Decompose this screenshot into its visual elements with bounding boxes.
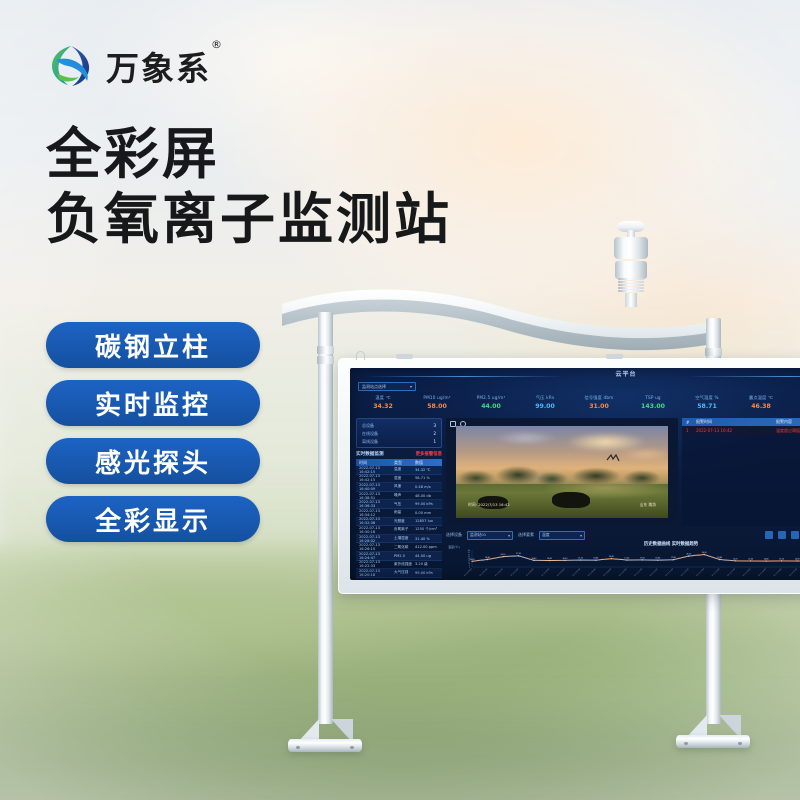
metric-value: 143.00 [626,402,680,412]
svg-text:18.40: 18.40 [717,557,722,559]
svg-text:07-13 14:00: 07-13 14:00 [681,568,690,576]
stat-label: 离线设备 [362,438,378,446]
metric-pm10: PM10 ug/m³ 58.00 [410,394,464,416]
video-timestamp: 时间: 2022/7/13 16:42 [468,502,510,508]
alarm-log-panel: # 报警时间 报警内容 1 2022-07-13 16:42 温度超过阈值上限 … [682,418,800,526]
cell-type: 二氧化碳 [394,545,415,550]
cell-time: 2022-07-13 16:22:33 [356,560,394,568]
chart-toolbar: 选择设备 监测站01 ▾ 选择要素 温度 ▾ 2022-07-13 00:00 [446,528,800,542]
metric-value: 48.00 [788,402,800,412]
table-row: 2022-07-13 16:30:18负氧离子1250 个/cm³ [356,526,442,535]
stat-label: 在线设备 [362,430,378,438]
metric-label: 信号强度 dbm [572,394,626,402]
table-row: 2022-07-13 16:36:33气压99.00 kPa [356,500,442,509]
cell-value: 99.00 kPa [415,571,442,575]
metric-humidity: 空气湿度 % 58.71 [680,394,734,416]
cell-type: PM2.5 [394,554,415,558]
svg-text:40: 40 [468,550,471,552]
stat-total: 总设备 3 [362,422,436,430]
column-time: 时间 [356,460,394,466]
svg-text:17.20: 17.20 [624,557,629,559]
log-column-time: 报警时间 [696,419,776,425]
table-row: 2022-07-13 16:40:09风速0.48 m/s [356,483,442,492]
cabinet-bracket-1 [396,354,413,359]
metric-value: 44.00 [464,402,518,412]
video-feed[interactable]: 时间: 2022/7/13 16:42 山东 潍坊 [446,418,678,526]
video-frame: 时间: 2022/7/13 16:42 山东 潍坊 [456,426,668,518]
video-location-tag: 山东 潍坊 [640,502,656,508]
sensor-body-upper [614,237,648,259]
metric-label: 温度 ℃ [356,394,410,402]
svg-text:16.40: 16.40 [532,558,537,560]
screen-header: 云平台 [350,368,800,382]
svg-text:16.80: 16.80 [593,558,598,560]
svg-text:07-13 08:00: 07-13 08:00 [588,568,597,576]
svg-text:07-13 13:00: 07-13 13:00 [665,568,674,576]
cell-value: 3.20 级 [415,562,442,567]
factor-select[interactable]: 温度 ▾ [539,531,585,540]
metric-noise: 噪声 db 48.00 [788,394,800,416]
metric-label: 空气湿度 % [680,394,734,402]
cell-value: 412.00 ppm [415,545,442,549]
svg-text:15.20: 15.20 [733,558,738,560]
cell-time: 2022-07-13 16:28:02 [356,535,394,543]
svg-text:17.50: 17.50 [640,557,645,559]
svg-text:27.20: 27.20 [516,553,521,555]
metric-value: 58.00 [410,402,464,412]
log-content: 温度超过阈值上限 请及时处理设备 [776,428,800,434]
video-cow-2 [552,492,590,508]
svg-text:07-13 18:00: 07-13 18:00 [743,568,752,576]
cell-value: 58.71 % [415,476,442,480]
cell-time: 2022-07-13 16:38:51 [356,492,394,500]
cell-type: 气压 [394,502,415,507]
cell-time: 2022-07-13 16:24:47 [356,552,394,560]
cell-time: 2022-07-13 16:30:18 [356,526,394,534]
more-alarms-link[interactable]: 更多报警信息 [416,451,442,457]
metric-pm25: PM2.5 ug/m³ 44.00 [464,394,518,416]
svg-text:07-13 02:00: 07-13 02:00 [495,568,504,576]
cell-value: 1250 个/cm³ [415,527,442,532]
log-row: 1 2022-07-13 16:42 温度超过阈值上限 请及时处理设备 [682,426,800,435]
header-rule-left [364,376,564,377]
stat-label: 总设备 [362,422,374,430]
svg-text:14.90: 14.90 [795,558,800,560]
svg-text:16.20: 16.20 [562,558,567,560]
svg-text:15.10: 15.10 [779,558,784,560]
cell-value: 0.48 m/s [415,485,442,489]
weather-sensor [608,221,654,303]
cell-time: 2022-07-13 16:40:09 [356,483,394,491]
metric-label: 噪声 db [788,394,800,402]
cell-type: 土壤湿度 [394,536,415,541]
metric-label: PM10 ug/m³ [410,394,464,402]
alarm-panel-header: 实时数据监测 更多报警信息 [356,451,442,457]
device-select[interactable]: 监测站01 ▾ [467,531,513,540]
svg-text:35: 35 [468,552,470,554]
svg-text:07-13 15:00: 07-13 15:00 [696,568,705,576]
cell-type: 紫外线强度 [394,562,415,567]
svg-text:07-13 04:00: 07-13 04:00 [526,568,535,576]
svg-text:07-13 12:00: 07-13 12:00 [650,568,659,576]
cell-value: 99.00 kPa [415,502,442,506]
stat-value: 2 [433,430,436,438]
svg-text:18.60: 18.60 [485,557,490,559]
display-cabinet: 云平台 监测站点选择 ▾ 欢迎您 admin 退出 温度 ℃ 34.32 PM1… [338,358,800,594]
metric-value: 34.32 [356,402,410,412]
column-value: 数值 [415,460,442,466]
cell-type: 负氧离子 [394,527,415,532]
station-select[interactable]: 监测站点选择 ▾ [358,382,416,391]
metric-label: 气压 kPa [518,394,572,402]
log-column-content: 报警内容 [776,419,792,425]
metric-pressure: 气压 kPa 99.00 [518,394,572,416]
cell-type: 雨量 [394,510,415,515]
metric-label: TSP ug [626,394,680,402]
base-plate-left [288,718,362,752]
svg-text:15.80: 15.80 [547,558,552,560]
cell-type: 光照度 [394,519,415,524]
metric-value: 46.38 [734,402,788,412]
stat-online: 在线设备 2 [362,430,436,438]
svg-text:07-13 17:00: 07-13 17:00 [727,568,736,576]
alarm-panel-title: 实时数据监测 [356,451,384,457]
support-post-left [318,312,333,724]
svg-text:07-13 11:00: 07-13 11:00 [634,568,643,576]
table-view-icon[interactable] [765,531,773,539]
svg-text:20.40: 20.40 [609,556,614,558]
svg-text:15.00: 15.00 [748,558,753,560]
svg-text:26.70: 26.70 [686,553,691,555]
metric-dewpoint: 露点温度 ℃ 46.38 [734,394,788,416]
svg-text:15: 15 [468,561,470,563]
metric-value: 31.00 [572,402,626,412]
factor-select-label: 选择要素 [518,532,534,538]
stat-value: 1 [433,438,436,446]
cell-type: 温度 [394,467,415,472]
sensor-body-lower [615,261,647,279]
sensor-mast [625,293,637,307]
cell-type: 大气压强 [394,570,415,575]
metric-value: 99.00 [518,402,572,412]
log-time: 2022-07-13 16:42 [696,428,776,433]
alarm-table: 时间 类型 数值 2022-07-13 16:42:15温度34.32 ℃202… [356,459,442,578]
svg-text:07-13 01:00: 07-13 01:00 [479,568,488,576]
stat-value: 3 [433,422,436,430]
device-stats-box: 总设备 3 在线设备 2 离线设备 1 [356,418,442,448]
table-row: 2022-07-13 16:42:15湿度58.71 % [356,475,442,484]
svg-text:07-13 20:00: 07-13 20:00 [774,568,783,576]
svg-text:16.90: 16.90 [655,558,660,560]
monitoring-station: 云平台 监测站点选择 ▾ 欢迎您 admin 退出 温度 ℃ 34.32 PM1… [0,0,800,800]
metric-value: 58.71 [680,402,734,412]
svg-text:14.80: 14.80 [764,559,769,561]
stat-offline: 离线设备 1 [362,438,436,446]
cell-time: 2022-07-13 16:26:15 [356,543,394,551]
platform-title: 云平台 [615,369,636,378]
video-bird [606,454,620,462]
chevron-down-icon: ▾ [410,384,412,389]
svg-text:07-13 10:00: 07-13 10:00 [619,568,628,576]
svg-text:17.80: 17.80 [671,557,676,559]
cell-time: 2022-07-13 16:36:33 [356,500,394,508]
log-header-row: # 报警时间 报警内容 [682,418,800,426]
export-icon[interactable] [791,531,799,539]
svg-text:17.10: 17.10 [578,558,583,560]
metric-signal: 信号强度 dbm 31.00 [572,394,626,416]
chart-plot: 051015202530354014.2018.6025.1027.2016.4… [446,547,800,576]
device-select-label: 选择设备 [446,532,462,538]
metric-label: 露点温度 ℃ [734,394,788,402]
left-panel: 总设备 3 在线设备 2 离线设备 1 实时数据监测 [356,418,442,574]
cell-value: 12857 lux [415,519,442,523]
cell-value: 0.00 mm [415,511,442,515]
station-select-value: 监测站点选择 [362,384,386,390]
cell-type: 风速 [394,484,415,489]
svg-text:30: 30 [468,554,471,556]
cell-type: 噪声 [394,493,415,498]
table-row: 2022-07-13 16:22:33紫外线强度3.20 级 [356,561,442,570]
cabinet-bracket-2 [606,354,623,359]
svg-text:5: 5 [469,565,470,567]
cabinet-hook-left [356,351,365,360]
svg-text:07-13 21:00: 07-13 21:00 [789,568,798,576]
log-index: 1 [682,428,696,433]
table-row: 2022-07-13 16:42:15温度34.32 ℃ [356,466,442,475]
cell-value: 34.32 ℃ [415,468,442,472]
factor-select-value: 温度 [542,532,550,538]
table-row: 2022-07-13 16:34:12雨量0.00 mm [356,509,442,518]
svg-text:07-13 03:00: 07-13 03:00 [510,568,519,576]
table-row: 2022-07-13 16:32:36光照度12857 lux [356,518,442,527]
metrics-row: 温度 ℃ 34.32 PM10 ug/m³ 58.00 PM2.5 ug/m³ … [356,394,800,416]
radiation-shield-fins [618,278,644,294]
svg-text:07-13 05:00: 07-13 05:00 [541,568,550,576]
history-chart: 历史数据曲线 实时数据趋势 温度(℃) 温度 湿度 05101520253035… [446,542,800,576]
device-select-value: 监测站01 [470,532,486,538]
svg-text:07-13 09:00: 07-13 09:00 [603,568,612,576]
led-display-screen: 云平台 监测站点选择 ▾ 欢迎您 admin 退出 温度 ℃ 34.32 PM1… [350,368,800,580]
table-row: 2022-07-13 16:28:02土壤湿度31.40 % [356,535,442,544]
chart-view-icon[interactable] [778,531,786,539]
cell-time: 2022-07-13 16:34:12 [356,509,394,517]
column-type: 类型 [394,460,415,466]
header-rule-right [688,376,800,377]
cell-value: 44.00 ug [415,554,442,558]
log-column-index: # [682,420,696,425]
metric-label: PM2.5 ug/m³ [464,394,518,402]
table-row: 2022-07-13 16:20:18大气压强99.00 kPa [356,569,442,578]
svg-text:07-13 16:00: 07-13 16:00 [712,568,721,576]
cell-time: 2022-07-13 16:42:15 [356,474,394,482]
svg-text:14.20: 14.20 [470,559,475,561]
svg-text:25.10: 25.10 [501,554,506,556]
cell-time: 2022-07-13 16:42:15 [356,466,394,474]
metric-temperature: 温度 ℃ 34.32 [356,394,410,416]
cell-time: 2022-07-13 16:20:18 [356,569,394,577]
chevron-down-icon: ▾ [508,533,510,538]
svg-text:30.20: 30.20 [702,552,707,554]
cell-value: 48.00 db [415,494,442,498]
chevron-down-icon: ▾ [580,533,582,538]
metric-tsp: TSP ug 143.00 [626,394,680,416]
svg-text:07-13 00:00: 07-13 00:00 [464,568,473,576]
svg-text:07-13 19:00: 07-13 19:00 [758,568,767,576]
svg-text:07-13 06:00: 07-13 06:00 [557,568,566,576]
base-plate-right [676,714,750,748]
cell-type: 湿度 [394,476,415,481]
table-row: 2022-07-13 16:38:51噪声48.00 db [356,492,442,501]
table-row: 2022-07-13 16:26:15二氧化碳412.00 ppm [356,543,442,552]
table-row: 2022-07-13 16:24:47PM2.544.00 ug [356,552,442,561]
svg-text:10: 10 [468,563,471,565]
cell-value: 31.40 % [415,537,442,541]
cell-time: 2022-07-13 16:32:36 [356,517,394,525]
svg-text:07-13 07:00: 07-13 07:00 [572,568,581,576]
